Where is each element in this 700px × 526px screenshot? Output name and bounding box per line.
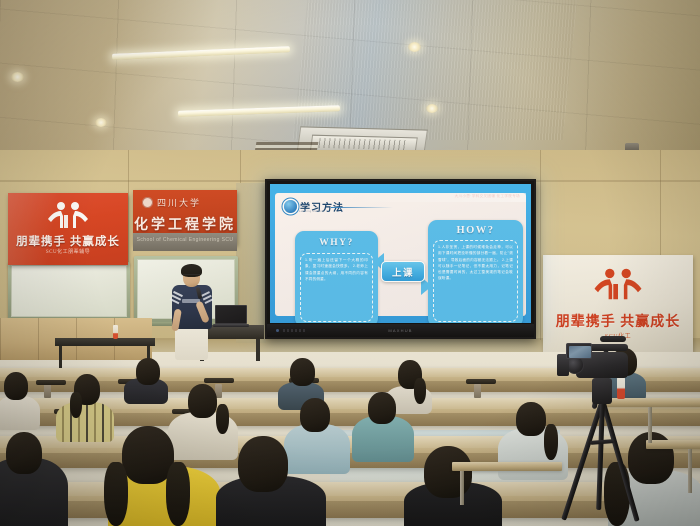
student-head xyxy=(188,384,217,418)
red-banner-subtitle: SCU化工朋辈辅导 xyxy=(8,248,128,255)
laptop-keyboard-base xyxy=(213,324,249,327)
student-head xyxy=(516,402,546,436)
slide-header-badge-icon xyxy=(284,200,297,213)
bench-desk xyxy=(452,462,562,471)
slide-top-right-note: 大川小思·学科交叉团辅 化工学院专场 xyxy=(455,194,520,199)
student-hair xyxy=(104,462,128,526)
shotgun-microphone xyxy=(600,336,626,342)
presenter-speaker xyxy=(168,265,216,360)
bench-backrest xyxy=(466,379,496,384)
student-hair xyxy=(414,378,426,404)
bench-post xyxy=(44,384,51,398)
classroom-whiteboard xyxy=(8,262,130,320)
water-bottle-on-bench xyxy=(617,377,625,399)
laptop-screen xyxy=(215,305,247,324)
bench-desk xyxy=(646,440,700,449)
slide-box-why-body: 1.听一遍上后还留下一个大概的印象，复习时速度会快很多。 2.老师上课会提重点的… xyxy=(305,257,368,282)
presentation-slide: 大川小思·学科交叉团辅 化工学院专场 学习方法 Learning Methods… xyxy=(270,184,531,323)
red-banner: 朋辈携手 共赢成长 SCU化工朋辈辅导 xyxy=(8,193,128,265)
student-hair xyxy=(70,392,82,418)
slide-box-how: HOW? 1.人非圣贤，上课的时候难免会走神，可以用下课时间把没听懂的部分看一遍… xyxy=(428,220,523,323)
slide-center-chip: 上课 xyxy=(381,261,425,282)
student-torso xyxy=(0,396,40,430)
slide-box-why-body-frame: 1.听一遍上后还留下一个大概的印象，复习时速度会快很多。 2.老师上课会提重点的… xyxy=(300,253,373,322)
bench-front xyxy=(0,453,700,468)
camera-top-handle[interactable] xyxy=(586,344,628,351)
slide-box-how-body: 1.人非圣贤，上课的时候难免会走神，可以用下课时间把没听懂的部分看一遍，防止"滚… xyxy=(438,244,513,282)
student-hair xyxy=(216,404,229,434)
bench-desk xyxy=(604,398,700,407)
ceiling-mesh-panel xyxy=(293,0,578,140)
slide-header-rule xyxy=(331,207,393,208)
slide-box-why: WHY? 1.听一遍上后还留下一个大概的印象，复习时速度会快很多。 2.老师上课… xyxy=(295,231,378,323)
front-low-table xyxy=(55,338,155,346)
whiteboard-surface xyxy=(11,265,127,317)
presenter-trousers xyxy=(175,327,208,360)
student-head xyxy=(4,372,28,400)
glasses-icon xyxy=(183,274,200,277)
white-banner-title: 朋辈携手 共赢成长 xyxy=(543,311,693,331)
scu-department-text: 化学工程学院 xyxy=(133,214,237,234)
bench-leg xyxy=(688,449,692,493)
bench-leg xyxy=(460,471,464,505)
student-hair xyxy=(544,424,558,460)
department-sign-footer: School of Chemical Engineering SCU xyxy=(133,233,237,251)
student-head xyxy=(6,432,42,474)
scu-emblem-icon xyxy=(142,197,153,208)
student-head xyxy=(424,446,472,498)
recessed-downlight xyxy=(408,42,421,52)
student-head xyxy=(368,392,396,424)
bench-post xyxy=(474,384,481,398)
slide-content-area: 大川小思·学科交叉团辅 化工学院专场 学习方法 Learning Methods… xyxy=(275,193,526,316)
student-hair xyxy=(166,462,190,526)
water-bottle-on-desk xyxy=(113,325,118,339)
student-head xyxy=(136,358,160,385)
recessed-downlight xyxy=(95,118,107,127)
ceiling xyxy=(0,0,700,172)
slide-box-why-label: WHY? xyxy=(295,238,378,248)
bench-backrest xyxy=(36,380,66,385)
student-head xyxy=(238,436,288,492)
recessed-downlight xyxy=(426,104,438,113)
student-head xyxy=(300,398,330,432)
power-led-icon xyxy=(276,329,279,332)
lcd-preview-image xyxy=(569,346,591,358)
wall-mounted-display[interactable]: 大川小思·学科交叉团辅 化工学院专场 学习方法 Learning Methods… xyxy=(265,179,536,339)
slide-header-subtitle: Learning Methods xyxy=(299,210,325,213)
student-torso xyxy=(56,402,114,442)
student-head xyxy=(290,358,315,386)
scu-english-text: School of Chemical Engineering SCU xyxy=(133,237,237,243)
scu-brand-text: 四川大学 xyxy=(157,196,201,209)
slide-box-how-body-frame: 1.人非圣贤，上课的时候难免会走神，可以用下课时间把没听懂的部分看一遍，防止"滚… xyxy=(433,240,518,322)
two-people-logo-icon xyxy=(45,201,91,234)
bench-leg xyxy=(648,407,652,443)
display-ports xyxy=(283,329,307,332)
tripod-fluid-head xyxy=(592,378,612,404)
two-people-logo-icon xyxy=(591,267,645,306)
flip-out-lcd-screen[interactable] xyxy=(566,343,592,359)
recessed-downlight xyxy=(11,72,24,82)
display-brand-logo: MAXHUB xyxy=(388,328,412,333)
slide-center-chip-label: 上课 xyxy=(392,265,414,279)
bench-backrest xyxy=(204,378,234,383)
red-banner-title: 朋辈携手 共赢成长 xyxy=(8,233,128,249)
slide-box-how-label: HOW? xyxy=(428,225,523,236)
display-bezel: MAXHUB xyxy=(267,324,534,337)
lecture-hall-photo: 四川大学 化学工程学院 School of Chemical Engineeri… xyxy=(0,0,700,526)
presenter-laptop[interactable] xyxy=(213,305,249,327)
